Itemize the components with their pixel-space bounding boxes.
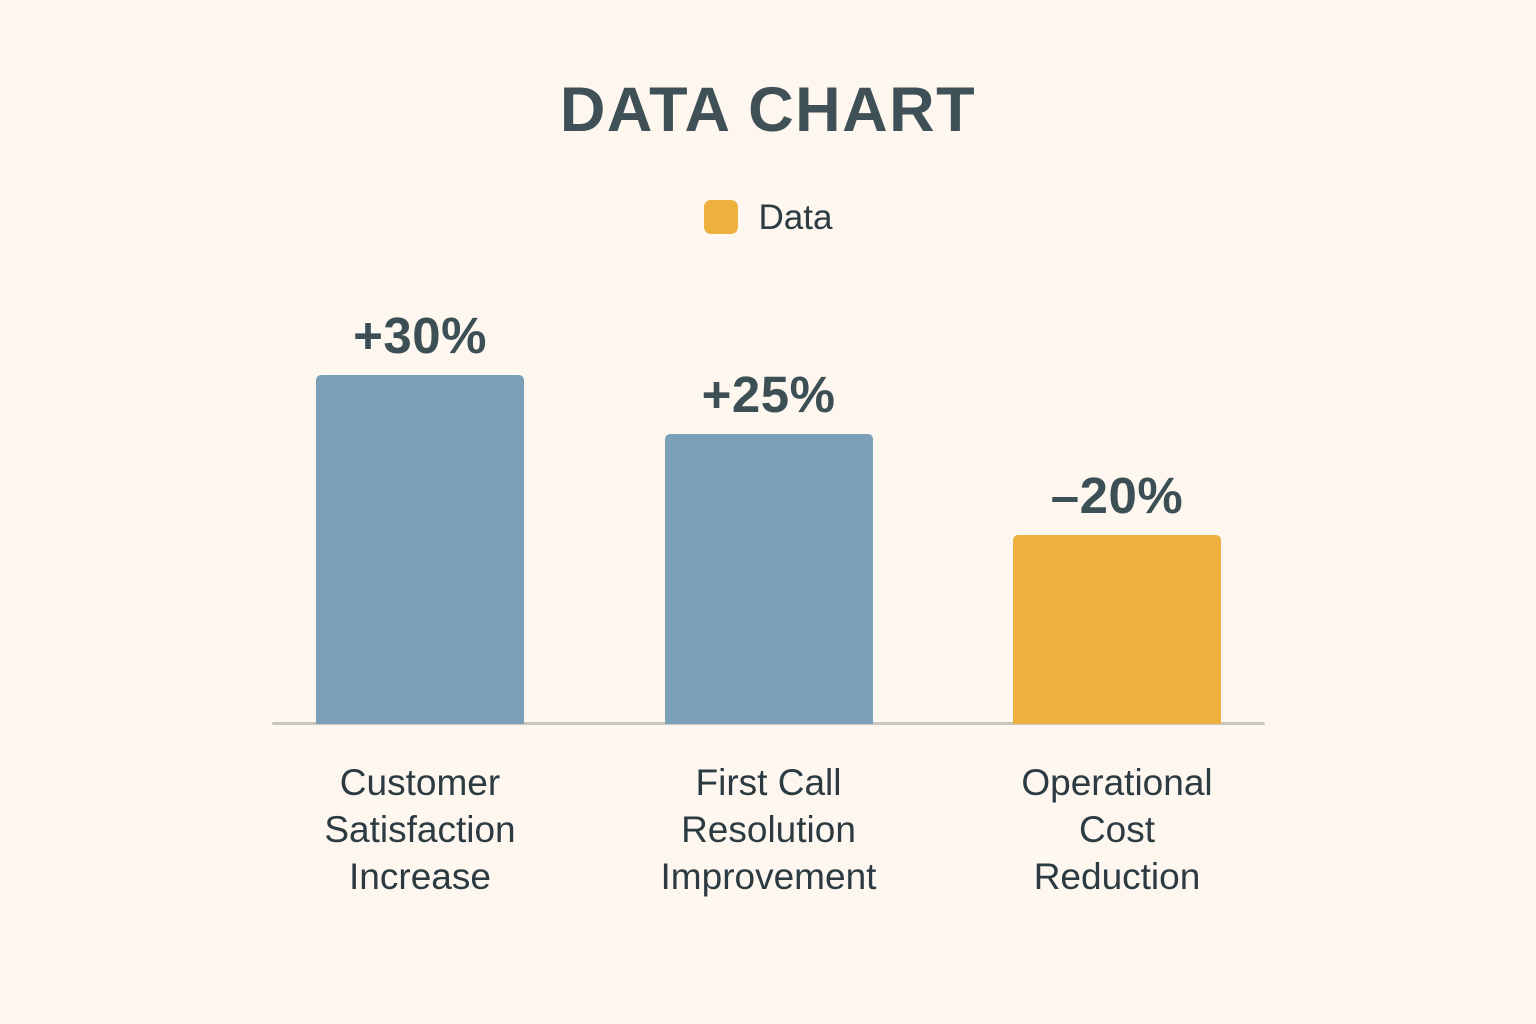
legend-item-label: Data <box>759 200 833 235</box>
category-label-1-line-0: First Call <box>621 760 917 807</box>
category-label-0-line-1: Satisfaction <box>272 807 568 854</box>
bar-1[interactable] <box>665 434 873 724</box>
x-axis-category-labels: Customer Satisfaction Increase First Cal… <box>272 760 1265 901</box>
category-label-0: Customer Satisfaction Increase <box>272 760 568 901</box>
bar-2[interactable] <box>1013 535 1221 724</box>
category-label-0-line-2: Increase <box>272 854 568 901</box>
bar-value-label-0: +30% <box>272 310 568 361</box>
legend-item-data[interactable]: Data <box>704 199 833 234</box>
bar-slot-1: +25% <box>621 300 917 724</box>
legend-swatch-icon <box>704 200 738 234</box>
category-label-2-line-0: Operational <box>969 760 1265 807</box>
chart-container: DATA CHART Data +30% +25% –20% Customer … <box>0 0 1536 1024</box>
category-label-1-line-1: Resolution <box>621 807 917 854</box>
bar-slot-2: –20% <box>969 300 1265 724</box>
category-label-2-line-2: Reduction <box>969 854 1265 901</box>
bar-group: +30% +25% –20% <box>272 300 1265 724</box>
category-label-1-line-2: Improvement <box>621 854 917 901</box>
category-label-1: First Call Resolution Improvement <box>621 760 917 901</box>
bar-value-label-1: +25% <box>621 369 917 420</box>
bar-value-label-2: –20% <box>969 470 1265 521</box>
category-label-0-line-0: Customer <box>272 760 568 807</box>
bar-0[interactable] <box>316 375 524 724</box>
chart-legend: Data <box>0 199 1536 234</box>
category-label-2-line-1: Cost <box>969 807 1265 854</box>
bar-slot-0: +30% <box>272 300 568 724</box>
category-label-2: Operational Cost Reduction <box>969 760 1265 901</box>
chart-title: DATA CHART <box>0 77 1536 143</box>
